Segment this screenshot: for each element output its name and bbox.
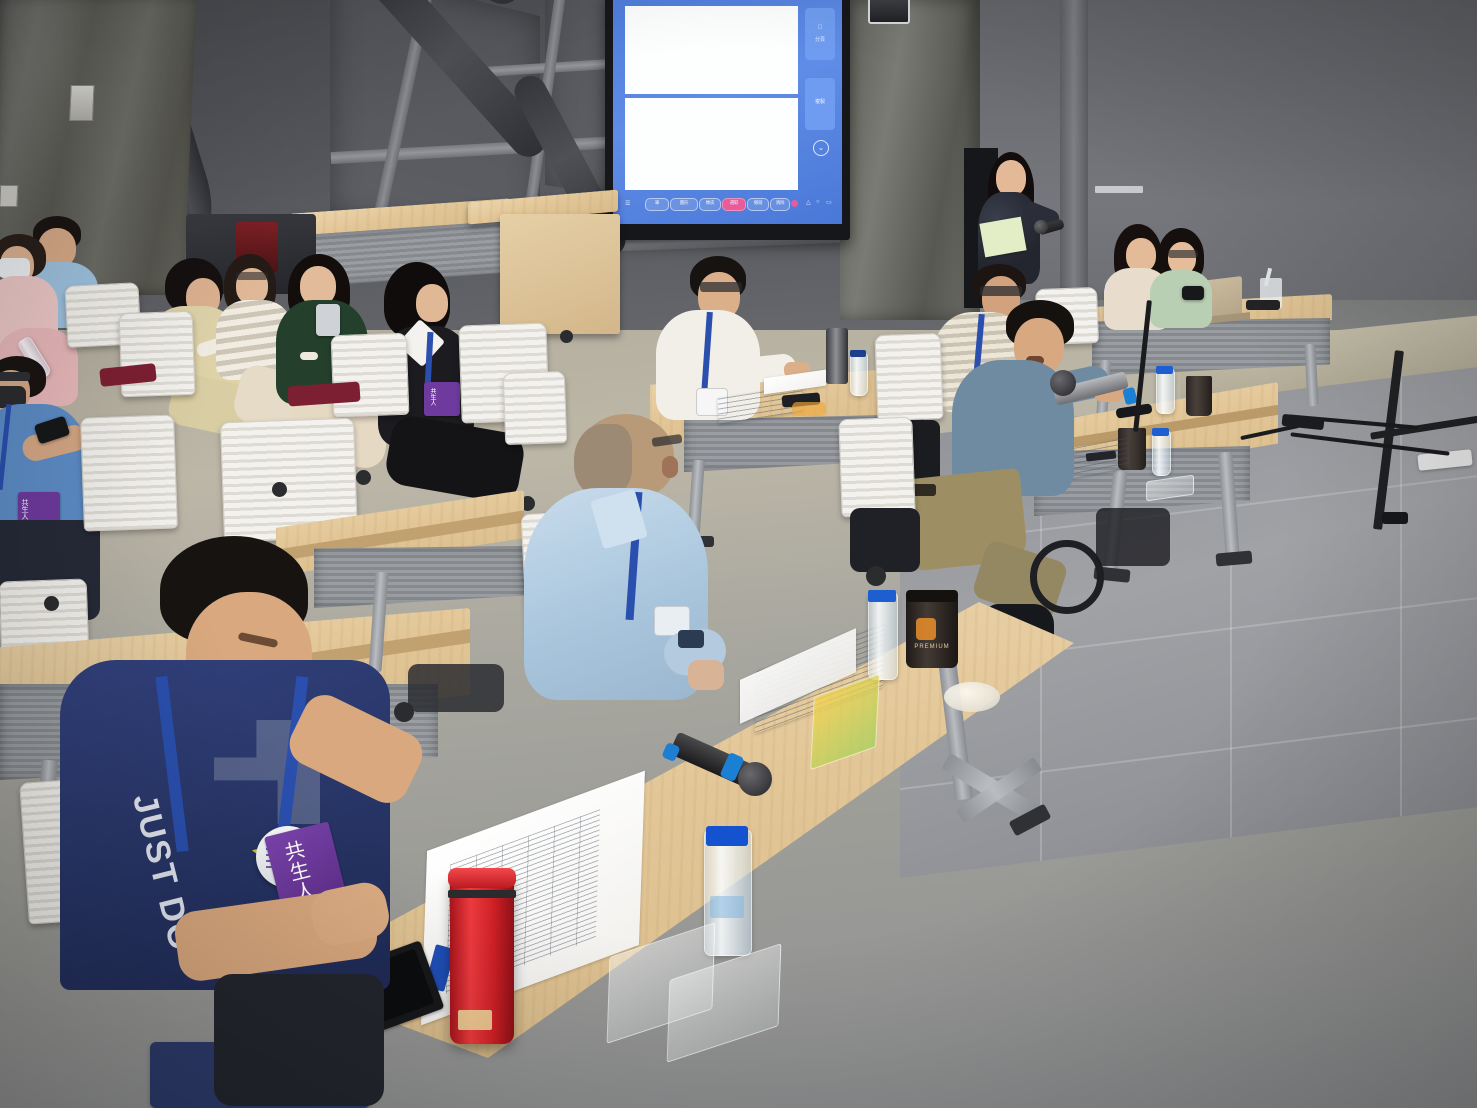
side-card-2-label: 複製 [805,98,835,105]
whiteboard-canvas-lower[interactable] [625,98,798,190]
thermos-lid [448,868,516,888]
eyeglasses-icon [236,272,268,280]
display-toolbar[interactable]: ☰ 筆 圖形 橡皮 選取 撤銷 清除 △ ○ ▭ [623,196,833,212]
coffee-cup [1186,376,1212,416]
display-screen[interactable]: □ 分頁 複製 ⌄ ☰ 筆 圖形 橡皮 選取 撤銷 清除 △ ○ ▭ [613,0,842,224]
premium-coffee-cup: PREMIUM [906,596,958,668]
chair[interactable] [838,417,915,518]
eyeglasses-icon [700,282,742,292]
color-swatch-pink[interactable] [791,200,798,207]
wall-pillar [1060,0,1088,330]
hair [574,424,632,496]
tool-shape[interactable]: 圖形 [670,198,698,211]
bottle-label [710,896,744,918]
tool-clear[interactable]: 清除 [770,198,790,211]
bottle-cap [1152,428,1169,436]
wall-socket[interactable] [0,185,18,207]
bottle-cap [706,826,748,846]
printed-sheet [979,217,1026,258]
water-bottle [850,352,868,396]
office-chair-base[interactable] [408,664,504,712]
cable-coil [1246,300,1280,310]
tool-undo[interactable]: 撤銷 [747,198,769,211]
cuff-stripe [300,352,318,360]
stone-column-center [840,0,980,320]
eyeglasses-icon [0,372,30,381]
side-card-1-label: 分頁 [805,36,835,43]
cup-brand-label: PREMIUM [910,644,954,650]
shape-rect-icon[interactable]: ▭ [826,199,832,206]
photo-scene: □ 分頁 複製 ⌄ ☰ 筆 圖形 橡皮 選取 撤銷 清除 △ ○ ▭ [0,0,1477,1108]
side-card-1[interactable]: □ 分頁 [805,8,835,60]
bottle-cap [850,350,866,357]
thermos-band [448,890,516,898]
name-badge: 共生人 [424,382,460,416]
wood-cabinet [500,214,620,334]
side-card-2[interactable]: 複製 [805,78,835,130]
chair[interactable] [503,371,567,445]
thermos-label [458,1010,492,1030]
chair[interactable] [80,414,178,531]
shape-triangle-icon[interactable]: △ [806,199,811,206]
chevron-down-icon[interactable]: ⌄ [813,140,829,156]
microphone-head [1034,220,1048,234]
mic-stand-foot [1382,512,1408,524]
microphone-head [1050,370,1076,396]
tool-pen[interactable]: 筆 [645,198,669,211]
snack-pack [792,402,826,416]
trousers [214,974,384,1106]
caster-wheel [560,330,573,343]
face-mask [0,258,30,278]
caster-wheel [866,566,886,586]
water-bottle [1156,368,1175,414]
bottle-cap [1156,366,1173,374]
wheel [1030,540,1104,614]
hand [688,660,724,690]
microphone-head [738,762,772,796]
open-mouth [662,456,678,478]
wall-outlet [1095,186,1143,193]
tool-select[interactable]: 選取 [722,198,746,211]
tool-eraser[interactable]: 橡皮 [699,198,721,211]
water-bottle [868,592,898,680]
light-switch-plate[interactable] [69,85,95,121]
caster-wheel [44,596,59,611]
office-chair-base[interactable] [850,508,920,572]
food-wrapper [944,682,1000,712]
wall-display[interactable]: □ 分頁 複製 ⌄ ☰ 筆 圖形 橡皮 選取 撤銷 清除 △ ○ ▭ [605,0,850,240]
water-bottle [1152,430,1171,476]
red-thermos [450,876,514,1044]
cup-logo-icon [916,618,936,640]
chair-frame [1096,508,1170,566]
toolbar-menu-icon[interactable]: ☰ [625,200,630,207]
bottle-cap [868,590,896,602]
chair[interactable] [331,333,410,418]
eyeglasses-icon [1168,250,1198,258]
cup-lid [906,590,958,602]
caster-wheel [356,470,371,485]
ceiling-camera-icon [868,0,910,24]
eyeglasses-icon [980,286,1022,296]
smartphone[interactable] [316,304,340,336]
whiteboard-canvas-upper[interactable] [625,6,798,94]
shape-circle-icon[interactable]: ○ [816,199,820,205]
caster-wheel [272,482,287,497]
steel-thermos [826,328,848,384]
smartphone[interactable] [1182,286,1204,300]
chair[interactable] [875,333,944,421]
side-card-1-icon: □ [805,24,835,30]
chair[interactable] [119,311,196,398]
wristwatch [678,630,704,648]
